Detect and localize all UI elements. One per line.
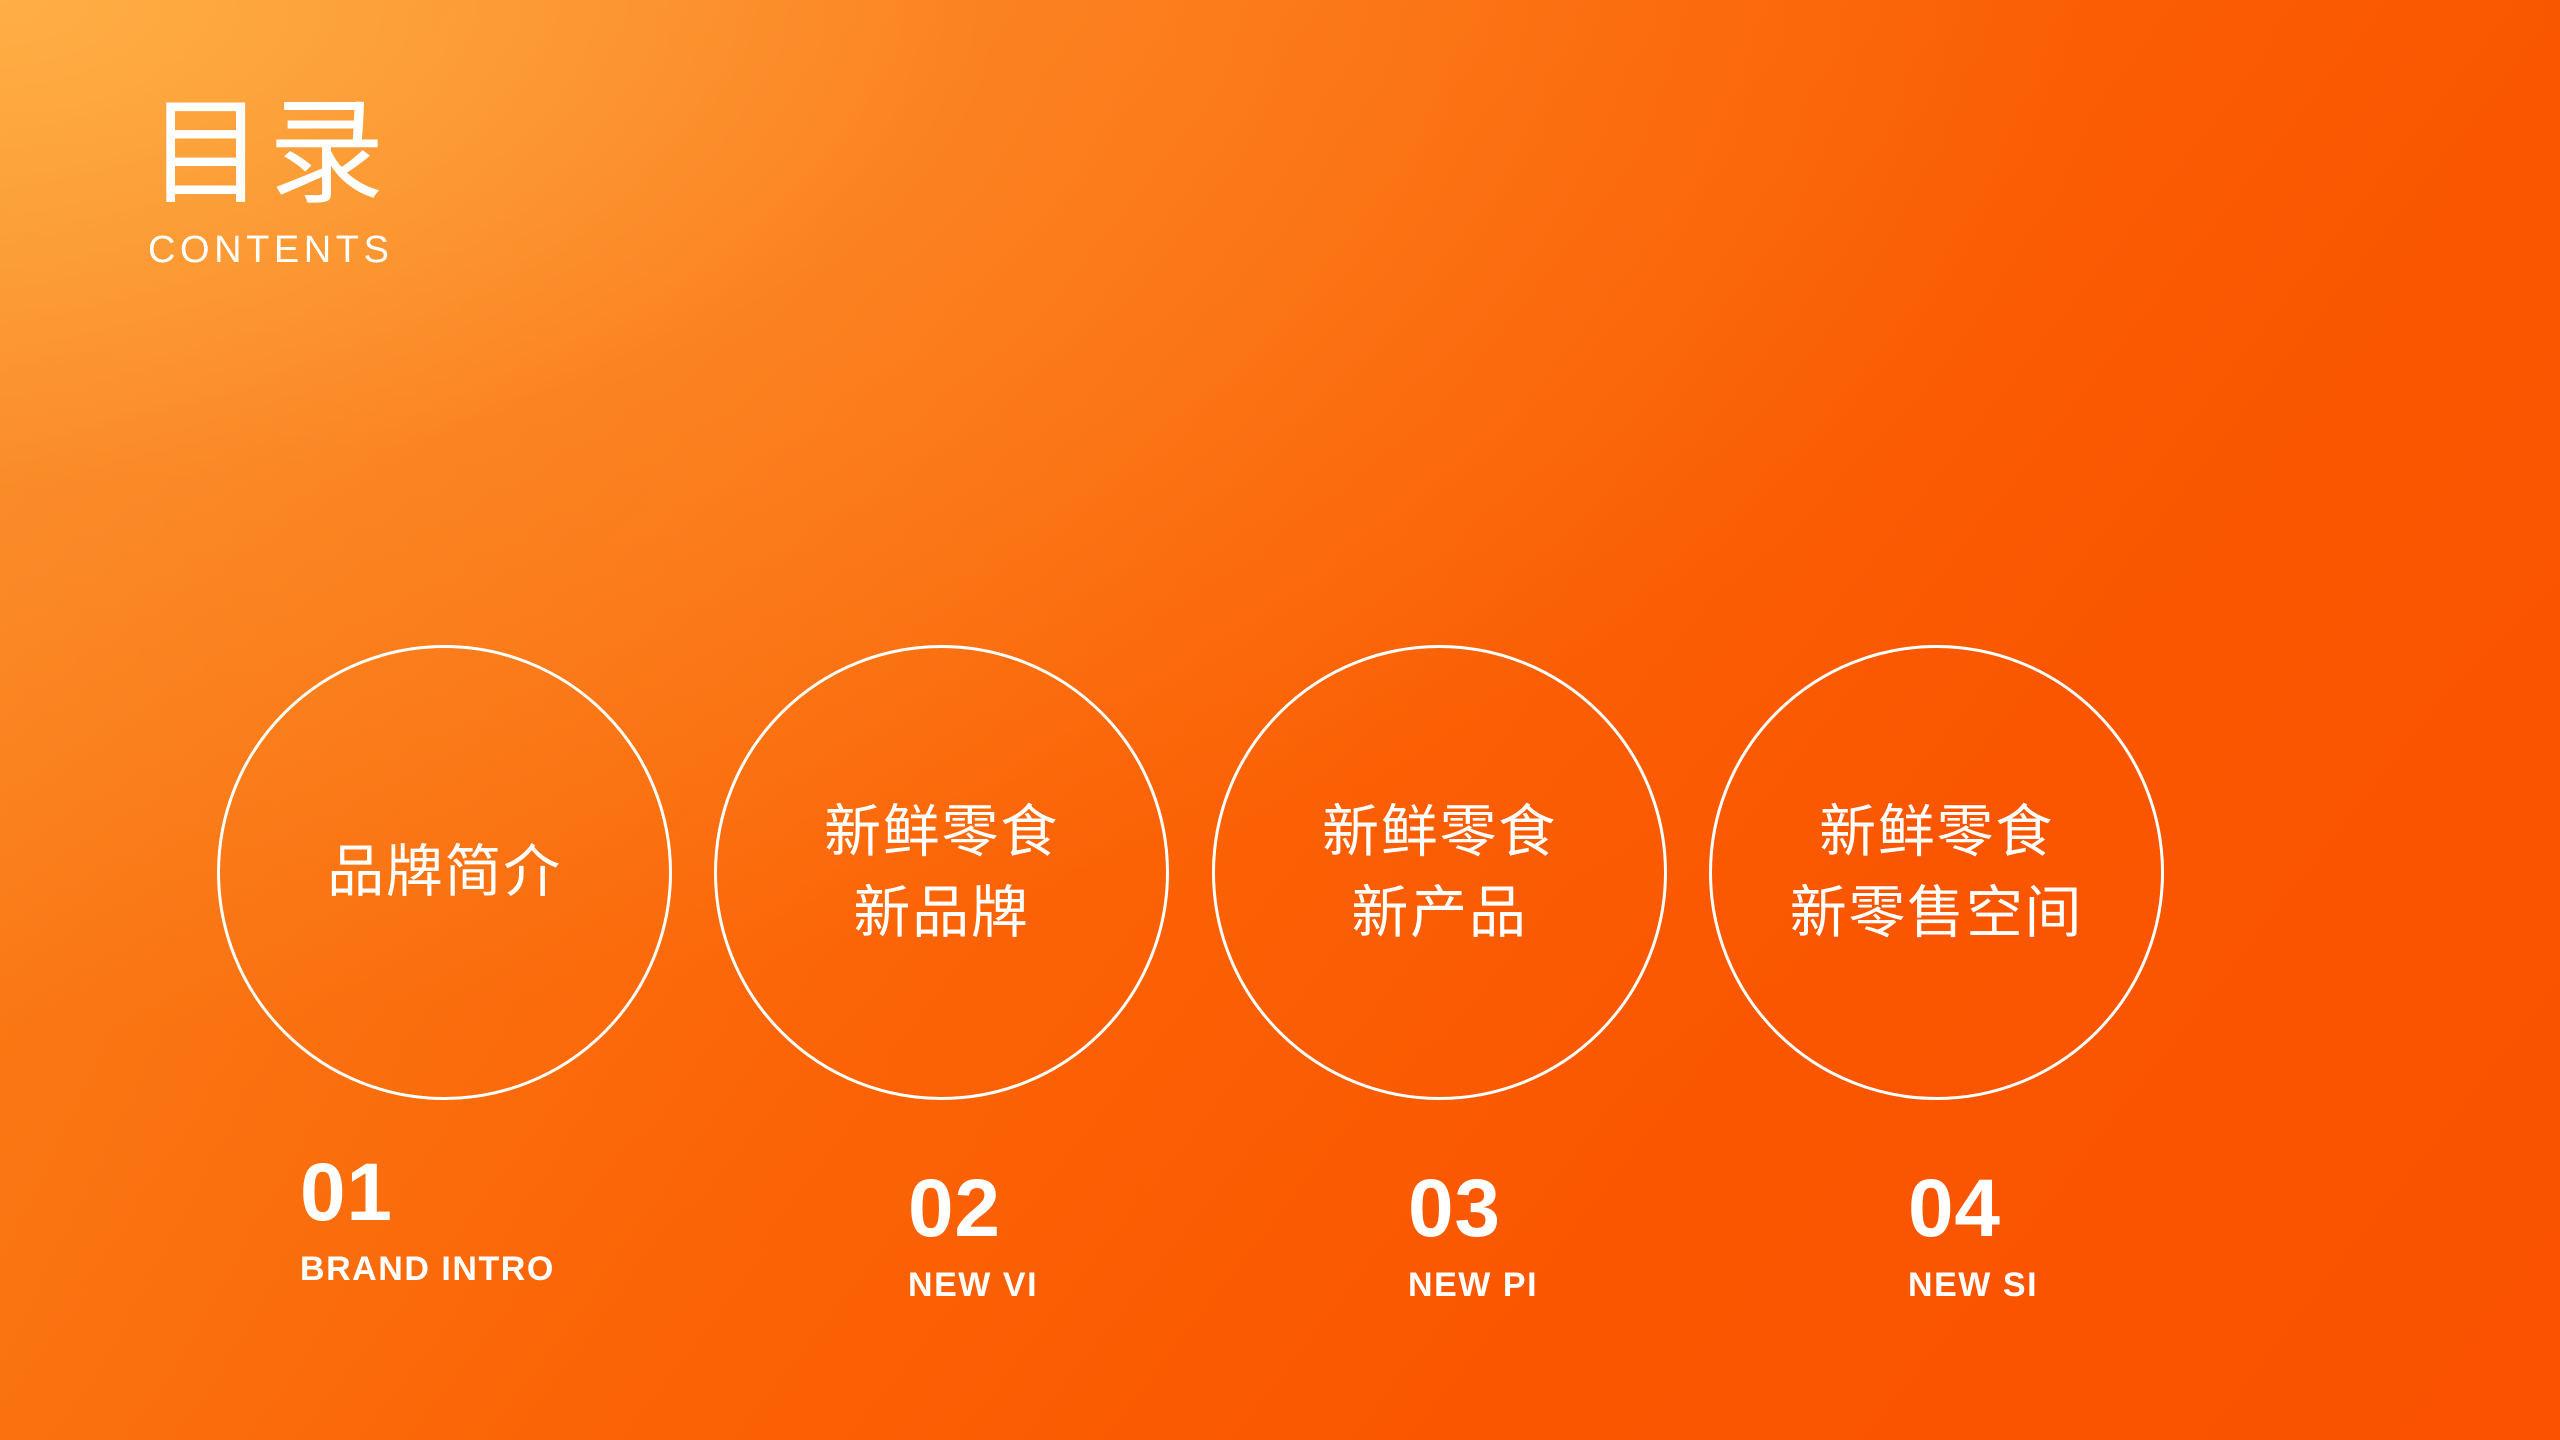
section-circle-label-03: 新鲜零食 新产品 — [1212, 645, 1667, 1100]
page-title-en: CONTENTS — [148, 229, 393, 272]
section-number: 01 — [300, 1152, 555, 1234]
circle-text-line: 新产品 — [1351, 873, 1527, 954]
section-circle-03[interactable]: 新鲜零食 新产品 — [1212, 645, 1667, 1100]
circle-text-line: 新鲜零食 — [824, 792, 1059, 873]
section-sub-label: NEW PI — [1408, 1266, 1538, 1305]
section-sub-label: BRAND INTRO — [300, 1250, 555, 1289]
circle-text-line: 新鲜零食 — [1322, 792, 1557, 873]
circle-text-line: 新零售空间 — [1790, 873, 2084, 954]
section-sub-label: NEW SI — [1908, 1266, 2038, 1305]
circle-text-line: 新品牌 — [853, 873, 1029, 954]
page-title-cn: 目录 — [148, 92, 393, 215]
circle-text-line: 品牌简介 — [327, 832, 562, 913]
section-circle-01[interactable]: 品牌简介 — [217, 645, 672, 1100]
section-number: 02 — [908, 1168, 1038, 1250]
section-circle-label-02: 新鲜零食 新品牌 — [714, 645, 1169, 1100]
section-caption-03[interactable]: 03 NEW PI — [1408, 1168, 1538, 1305]
section-circle-02[interactable]: 新鲜零食 新品牌 — [714, 645, 1169, 1100]
section-circle-label-01: 品牌简介 — [217, 645, 672, 1100]
section-number: 04 — [1908, 1168, 2038, 1250]
section-number: 03 — [1408, 1168, 1538, 1250]
section-sub-label: NEW VI — [908, 1266, 1038, 1305]
section-circle-label-04: 新鲜零食 新零售空间 — [1709, 645, 2164, 1100]
section-circle-04[interactable]: 新鲜零食 新零售空间 — [1709, 645, 2164, 1100]
section-caption-04[interactable]: 04 NEW SI — [1908, 1168, 2038, 1305]
section-caption-02[interactable]: 02 NEW VI — [908, 1168, 1038, 1305]
section-caption-01[interactable]: 01 BRAND INTRO — [300, 1152, 555, 1289]
page-title: 目录 CONTENTS — [148, 92, 393, 272]
contents-slide: 目录 CONTENTS 品牌简介 新鲜零食 新品牌 新鲜零食 新产品 — [0, 0, 2560, 1440]
circle-text-line: 新鲜零食 — [1819, 792, 2054, 873]
section-circle-row: 品牌简介 新鲜零食 新品牌 新鲜零食 新产品 新鲜零食 新零售空间 — [0, 645, 2560, 1105]
